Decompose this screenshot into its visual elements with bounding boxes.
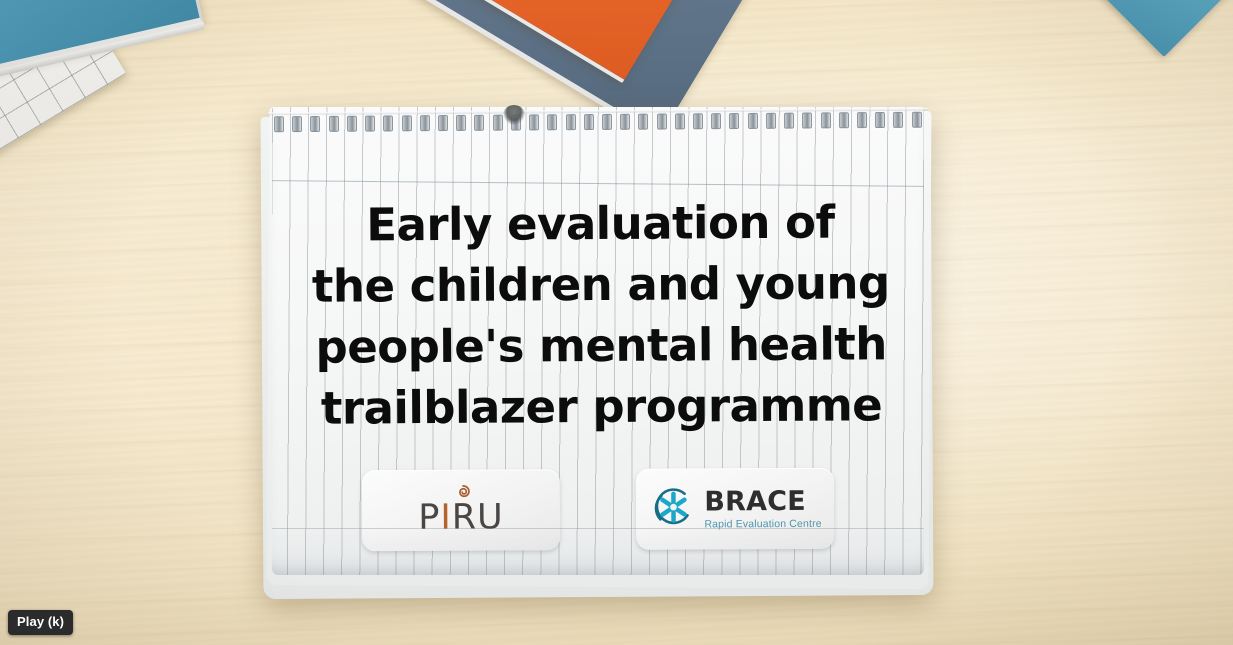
- prop-teal-notebook-top-right: [1079, 0, 1233, 57]
- spiral-ring: [893, 112, 903, 128]
- slide-title-line-1: Early evaluation of: [311, 191, 889, 256]
- notepad: Early evaluation of the children and you…: [258, 107, 936, 597]
- spiral-ring: [693, 113, 703, 129]
- spiral-ring: [565, 114, 575, 130]
- pen-clip-blob: [503, 105, 525, 125]
- spiral-ring: [711, 113, 721, 129]
- spiral-ring: [438, 115, 448, 131]
- spiral-ring: [839, 112, 849, 128]
- spiral-ring: [529, 114, 539, 130]
- spiral-ring: [401, 115, 411, 131]
- spiral-ring: [857, 112, 867, 128]
- spiral-ring: [292, 116, 302, 132]
- spiral-ring: [748, 113, 758, 129]
- spiral-ring: [420, 115, 430, 131]
- notepad-top-sheet: Early evaluation of the children and you…: [272, 107, 924, 575]
- spiral-ring: [657, 114, 667, 130]
- spiral-ring: [912, 112, 922, 128]
- spiral-ring: [675, 113, 685, 129]
- spiral-ring: [784, 113, 794, 129]
- spiral-ring: [547, 114, 557, 130]
- slide-title-line-3: people's mental health: [312, 313, 890, 378]
- slide-title-line-2: the children and young: [312, 252, 890, 317]
- spiral-ring: [584, 114, 594, 130]
- spiral-ring: [766, 113, 776, 129]
- play-button-tooltip[interactable]: Play (k): [8, 610, 73, 635]
- spiral-ring: [310, 116, 320, 132]
- slide-title: Early evaluation of the children and you…: [311, 191, 890, 439]
- spiral-ring: [875, 112, 885, 128]
- brace-wordmark: BRACE: [704, 488, 821, 516]
- spiral-ring: [347, 116, 357, 132]
- spiral-ring: [329, 116, 339, 132]
- spiral-ring: [638, 114, 648, 130]
- video-player-frame[interactable]: Early evaluation of the children and you…: [0, 0, 1233, 645]
- spiral-ring: [274, 116, 284, 132]
- spiral-ring: [821, 112, 831, 128]
- spiral-ring: [365, 116, 375, 132]
- notepad-margin-rule: [272, 180, 924, 187]
- spiral-ring: [456, 115, 466, 131]
- spiral-ring: [474, 115, 484, 131]
- spiral-ring: [493, 115, 503, 131]
- spiral-ring: [802, 113, 812, 129]
- spiral-ring: [620, 114, 630, 130]
- notepad-bottom-edge: [272, 528, 924, 575]
- slide-title-line-4: trailblazer programme: [312, 374, 890, 439]
- spiral-ring: [602, 114, 612, 130]
- brace-text-block: BRACE Rapid Evaluation Centre: [704, 488, 821, 530]
- spiral-ring: [383, 115, 393, 131]
- spiral-ring: [729, 113, 739, 129]
- spiral-binding: [274, 107, 922, 138]
